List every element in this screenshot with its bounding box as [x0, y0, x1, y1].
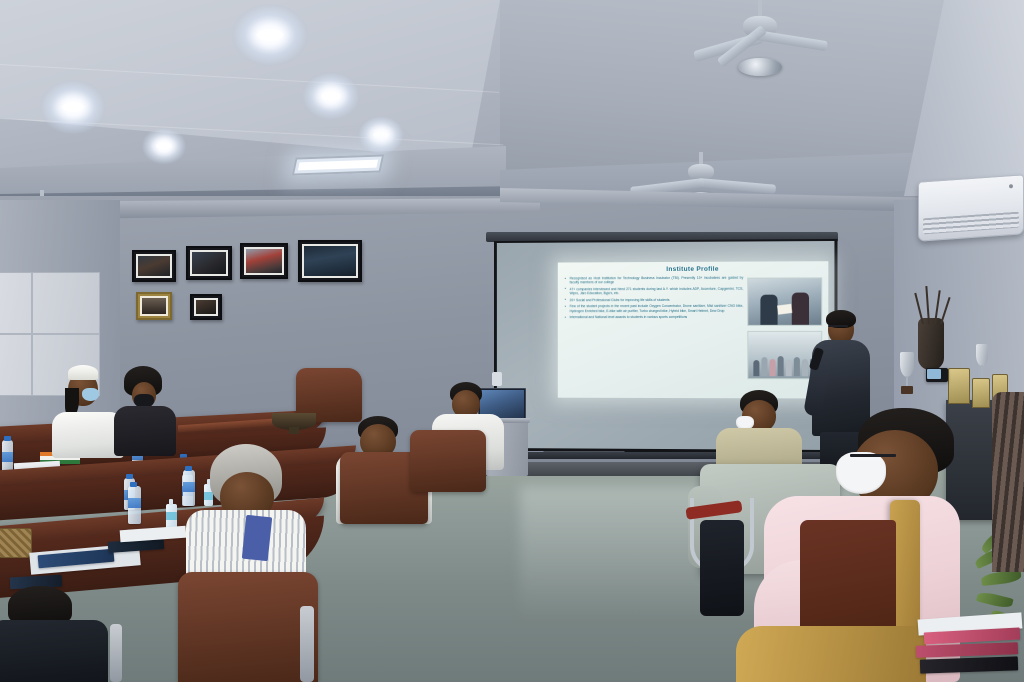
dark-jacket [0, 620, 108, 682]
decorative-vase [918, 318, 944, 370]
skullcap [68, 365, 98, 380]
ceiling-fan-rear [700, 0, 820, 96]
dark-outfit [114, 406, 176, 456]
slide-title: Institute Profile [565, 265, 823, 273]
framed-photo-6 [190, 294, 222, 320]
chair-arm [300, 606, 314, 682]
framed-photo-3 [240, 243, 288, 279]
ac-led-indicator [1009, 184, 1013, 188]
face-mask [82, 388, 99, 401]
ceiling-downlight [232, 4, 308, 66]
leather-chair-front [178, 572, 318, 682]
split-ac-unit [918, 174, 1024, 241]
framed-photo-5 [136, 292, 172, 320]
framed-photo-2 [186, 246, 232, 280]
slide-bullet: 20+ Social and Professional Clubs for im… [565, 298, 744, 303]
water-bottle [128, 486, 141, 524]
camcorder [926, 368, 948, 382]
wicker-basket [0, 528, 32, 558]
award-plaque [972, 378, 990, 408]
ceiling-downlight [358, 116, 404, 154]
leather-chair-mid-2 [410, 430, 486, 492]
trophy [900, 352, 914, 394]
slide-bullet: Few of the student projects in the recen… [565, 304, 744, 313]
slide-bullet: International and National level awards … [565, 315, 744, 320]
framed-photo-1 [132, 250, 176, 282]
lanyard [242, 515, 272, 561]
attendee-woman-dark-clothing [114, 366, 176, 450]
projected-slide: Institute Profile Recognized as Host Ins… [558, 261, 829, 398]
water-bottle [2, 440, 13, 472]
ceiling-downlight [40, 80, 106, 134]
ceiling-downlight [302, 72, 360, 120]
attendee-partial-left-edge [0, 586, 112, 682]
ac-vent [923, 212, 1019, 235]
armchair-armrest [736, 626, 926, 682]
framed-photo-4 [298, 240, 362, 282]
slide-bullet: Recognized as Host Institution for Techn… [565, 276, 744, 285]
eyeglasses [850, 454, 896, 457]
ceiling-downlight [142, 128, 186, 164]
award-plaque [948, 368, 970, 404]
attendee-legs [700, 520, 744, 616]
ceiling-panel-light [292, 154, 384, 175]
slide-bullet: 47+ companies interviewed and hired 271 … [565, 287, 744, 296]
attendee-partial-right-edge [992, 392, 1024, 572]
fruit-bowl-centerpiece [272, 404, 316, 434]
face-mask [836, 452, 886, 494]
slide-bullet-list: Recognized as Host Institution for Techn… [565, 276, 744, 379]
conference-room-photo: Institute Profile Recognized as Host Ins… [0, 0, 1024, 682]
